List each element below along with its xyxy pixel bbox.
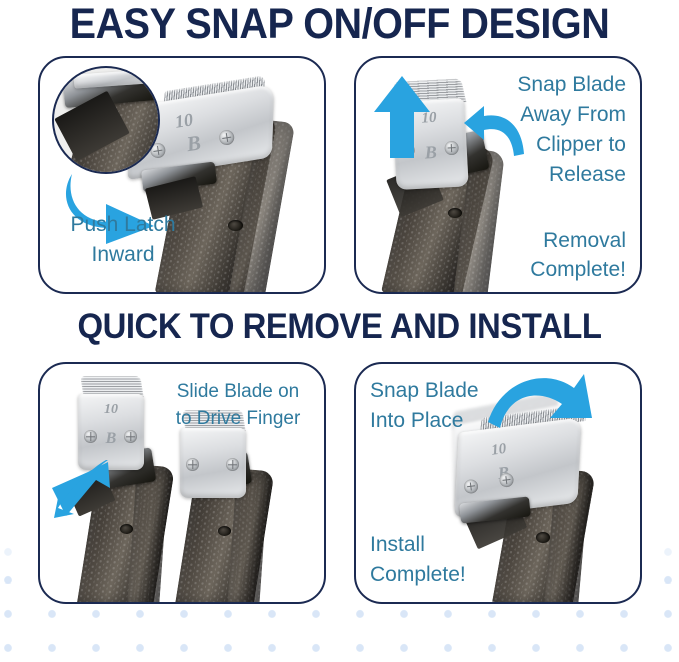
slide-blade-caption: Slide Blade on to Drive Finger [158, 378, 318, 432]
primary-heading: EASY SNAP ON/OFF DESIGN [27, 1, 652, 47]
removal-complete-caption: Removal Complete! [476, 226, 626, 284]
blade-screw-left [186, 458, 199, 471]
push-latch-caption: Push Latch Inward [48, 210, 198, 270]
install-complete-caption: Install Complete! [370, 530, 530, 590]
snap-into-place-caption: Snap Blade Into Place [370, 376, 520, 436]
up-arrow-icon [374, 76, 430, 158]
blade-size-marking: 10 [94, 402, 128, 418]
secondary-heading: QUICK TO REMOVE AND INSTALL [20, 308, 658, 346]
clipper-body-hole [536, 532, 550, 543]
panel-snap-blade-into-place: 10 B Snap Blade Into Place Install Compl… [354, 362, 642, 604]
clipper-body-hole [448, 208, 462, 218]
blade-brand-marking: B [178, 129, 210, 158]
clipper-body-left-hole [120, 524, 133, 534]
latch-closeup-inset [52, 66, 160, 174]
down-left-arrow-icon [52, 458, 112, 520]
panel-slide-blade-on: 10 B Slide Blade on to Drive Finger [38, 362, 326, 604]
blade-brand-marking: B [94, 430, 128, 448]
clipper-body-hole [228, 220, 243, 231]
panel-push-latch-inward: 10 B Push Latch Inward [38, 56, 326, 294]
blade-screw-left [84, 430, 97, 443]
snap-blade-away-caption: Snap Blade Away From Clipper to Release [476, 70, 626, 190]
panel-snap-blade-away: 10 B Snap Blade Away From Clipper to Rel… [354, 56, 642, 294]
blade-screw-right [226, 458, 239, 471]
blade-screw-right [124, 430, 137, 443]
clipper-body-right-hole [218, 526, 231, 536]
